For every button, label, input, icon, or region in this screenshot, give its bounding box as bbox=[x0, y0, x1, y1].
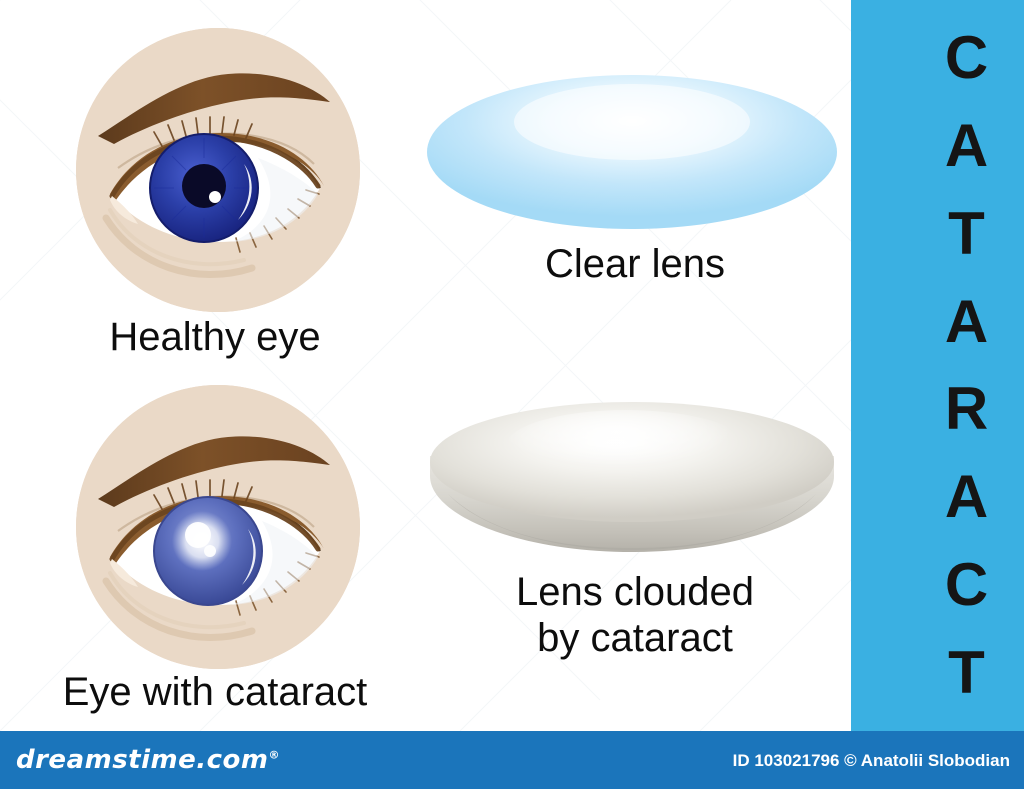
title-letter-6: C bbox=[945, 555, 988, 615]
clouded-lens-label-line1: Lens clouded bbox=[420, 570, 850, 616]
clouded-lens-illustration bbox=[420, 390, 850, 570]
clouded-lens-label: Lens clouded by cataract bbox=[420, 570, 850, 661]
title-letter-1: A bbox=[945, 116, 988, 176]
stock-footer-bar: dreamstime.com® ID 103021796 © Anatolii … bbox=[0, 731, 1024, 789]
panel-healthy-eye: Healthy eye bbox=[0, 0, 430, 370]
image-credit: ID 103021796 © Anatolii Slobodian bbox=[733, 751, 1010, 771]
title-letter-4: R bbox=[945, 379, 988, 439]
cataract-infographic: Healthy eye bbox=[0, 0, 1024, 789]
healthy-eye-label: Healthy eye bbox=[0, 315, 430, 360]
panel-cataract-eye: Eye with cataract bbox=[0, 370, 430, 731]
dreamstime-logo-text: dreamstime.com bbox=[16, 745, 269, 775]
clear-lens-illustration bbox=[420, 60, 850, 240]
title-letter-7: T bbox=[948, 643, 985, 703]
title-letter-2: T bbox=[948, 204, 985, 264]
panel-clear-lens: Clear lens bbox=[420, 60, 850, 310]
cataract-eye-label: Eye with cataract bbox=[0, 670, 430, 715]
vertical-title-bar: C A T A R A C T bbox=[851, 0, 1024, 731]
panel-clouded-lens: Lens clouded by cataract bbox=[420, 390, 850, 680]
clouded-lens-label-line2: by cataract bbox=[420, 616, 850, 662]
title-letter-0: C bbox=[945, 28, 988, 88]
dreamstime-logo[interactable]: dreamstime.com® bbox=[16, 745, 280, 775]
registered-trademark-icon: ® bbox=[269, 748, 281, 761]
cataract-eye-illustration bbox=[76, 385, 360, 669]
title-letter-3: A bbox=[945, 292, 988, 352]
healthy-eye-illustration bbox=[76, 28, 360, 312]
title-letter-5: A bbox=[945, 467, 988, 527]
clear-lens-label: Clear lens bbox=[420, 242, 850, 288]
